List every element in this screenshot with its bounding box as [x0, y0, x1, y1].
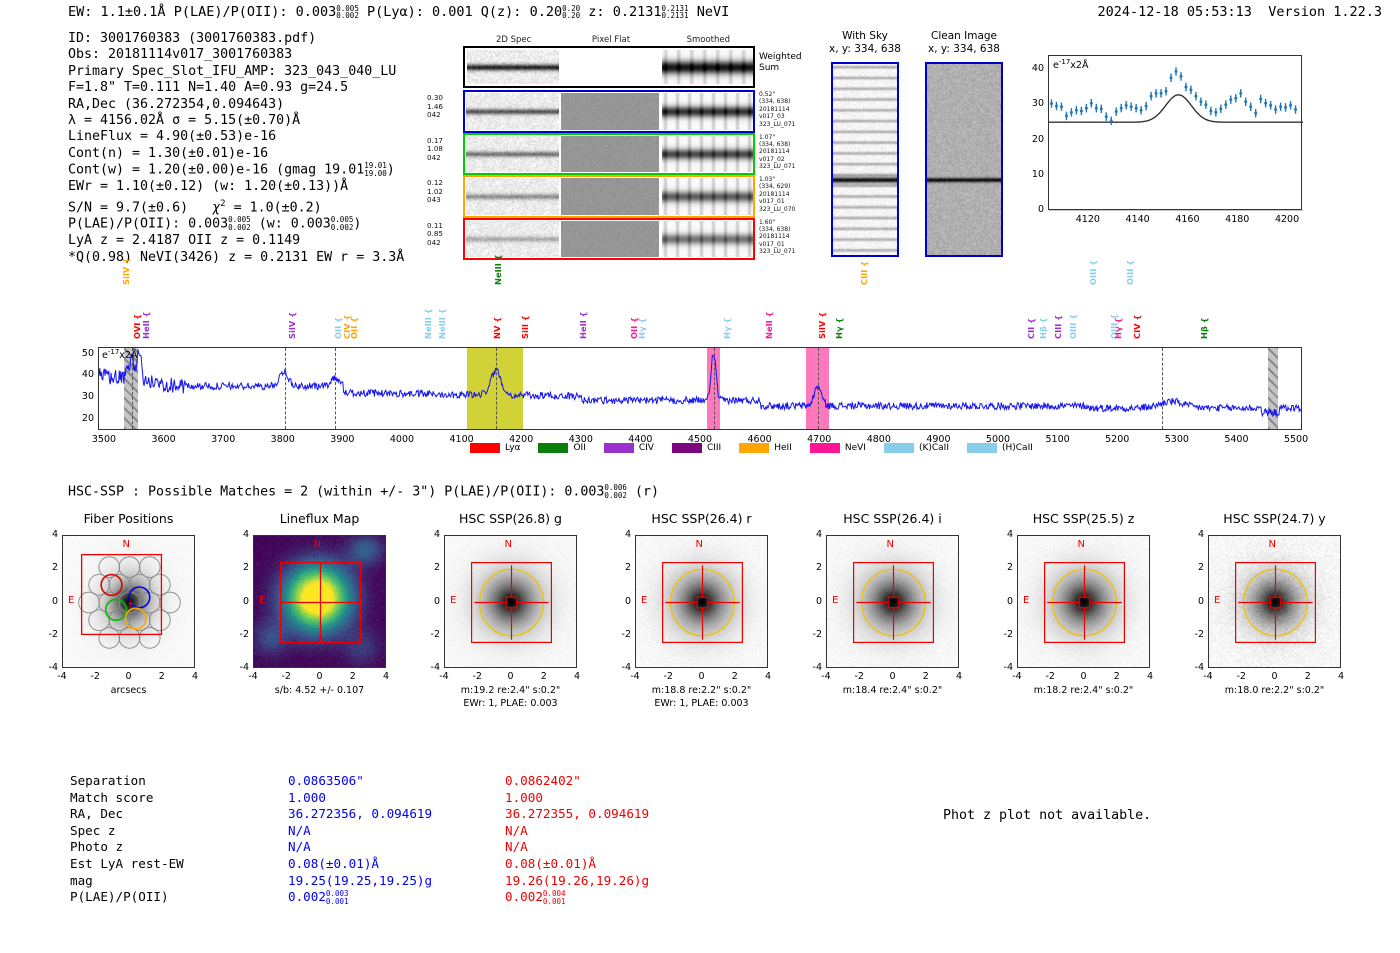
panel-ytick: -4 [1186, 662, 1204, 673]
hsc-summary: HSC-SSP : Possible Matches = 2 (within +… [68, 484, 659, 500]
spectrum-xtick: 3500 [84, 434, 124, 445]
info-radec: RA,Dec (36.272354,0.094643) [68, 97, 404, 113]
cutout-title: Clean Image [903, 30, 1025, 42]
spectrum-xtick: 4000 [382, 434, 422, 445]
panel-ytick: 2 [1186, 562, 1204, 573]
match-table-labels: SeparationMatch scoreRA, DecSpec zPhoto … [70, 773, 184, 906]
panel-xtick: 0 [497, 671, 525, 682]
spectrum-line-label: Hγ { [722, 318, 732, 339]
spectrum-xtick: 5100 [1038, 434, 1078, 445]
legend-swatch [967, 443, 997, 453]
panel-xtick: 2 [912, 671, 940, 682]
spectrum-line-label: SiIV { [817, 312, 827, 339]
header-qz-bounds: 0.200.20 [562, 5, 580, 20]
hsc-summary-text: HSC-SSP : Possible Matches = 2 (within +… [68, 485, 604, 500]
spectrum-line-label: CIV { [1132, 315, 1142, 339]
match-row-value: 0.08(±0.01)Å [505, 856, 649, 873]
panel-xtick: -2 [81, 671, 109, 682]
panel-xtick: -4 [239, 671, 267, 682]
panel-axes [444, 535, 577, 668]
spectrum-band [707, 348, 720, 429]
panel-axes [826, 535, 959, 668]
panel-xtick: -2 [463, 671, 491, 682]
match-table-col-0: 0.0863506"1.00036.272356, 0.094619N/AN/A… [288, 773, 432, 906]
spectrum-line-label: SiII { [520, 315, 530, 339]
spectrum-line-label: OIII { [1068, 314, 1078, 339]
spectrum-line-label: Hγ { [1113, 318, 1123, 339]
spectrum-dashed-line [496, 348, 497, 429]
panel-xtick: -2 [272, 671, 300, 682]
panel-ytick: -2 [804, 629, 822, 640]
panel-caption-2: EWr: 1, PLAE: 0.003 [414, 698, 607, 709]
panel-ytick: -2 [422, 629, 440, 640]
spec2d-right-value: v017_03 [759, 113, 795, 120]
cutout-subtitle: x, y: 334, 638 [903, 43, 1025, 55]
legend-swatch [884, 443, 914, 453]
header-timestamp-block: 2024-12-18 05:53:13 Version 1.22.3 [1098, 4, 1383, 20]
cutout-overlay [1209, 536, 1341, 668]
panel-caption: m:18.2 re:2.4" s:0.2" [987, 685, 1180, 696]
cutout-image [925, 62, 1003, 257]
legend-swatch [538, 443, 568, 453]
linefit-xtick: 4180 [1221, 214, 1253, 225]
panel-xtick: -2 [1227, 671, 1255, 682]
match-row-label: Photo z [70, 839, 184, 856]
spectrum-line-label: Hβ { [1038, 317, 1048, 339]
panel-ytick: 4 [422, 529, 440, 540]
panel-title: HSC SSP(24.7) y [1186, 511, 1363, 526]
match-row-label: mag [70, 873, 184, 890]
header-qz-label: Q(z): [481, 4, 522, 20]
spec2d-left-value: 1.08 [427, 145, 443, 154]
panel-ytick: 0 [613, 596, 631, 607]
spec2d-row-left-labels: 0.171.08042 [427, 137, 443, 163]
match-row-value: 1.000 [505, 790, 649, 807]
photz-note: Phot z plot not available. [943, 808, 1151, 823]
info-plae2: P(LAE)/P(OII): 0.0030.0050.002 (w: 0.003… [68, 216, 404, 233]
spec2d-weighted-sum-label: Weighted Sum [759, 52, 802, 74]
spectrum-line-label: OII { [333, 317, 343, 339]
spec2d-right-value: 1.60" [759, 219, 795, 226]
spec2d-row [463, 175, 755, 218]
spec2d-left-value: 0.17 [427, 137, 443, 146]
linefit-xtick: 4160 [1171, 214, 1203, 225]
panel-ytick: 0 [804, 596, 822, 607]
spectrum-line-label: NeIII { [423, 308, 433, 339]
panel-xtick: 2 [339, 671, 367, 682]
header-version: Version 1.22.3 [1268, 4, 1382, 20]
spectrum-xtick: 5400 [1216, 434, 1256, 445]
header-plae-bounds: 0.0050.002 [336, 5, 359, 20]
spectrum-ytick: 30 [74, 391, 94, 402]
compass-n-label: N [887, 539, 894, 550]
linefit-xtick: 4120 [1072, 214, 1104, 225]
panel-xtick: 4 [1136, 671, 1164, 682]
panel-ytick: 4 [804, 529, 822, 540]
match-row-label: Est LyA rest-EW [70, 856, 184, 873]
compass-e-label: E [1214, 595, 1220, 606]
spec2d-row-pixelflat [561, 178, 658, 215]
spec2d-right-value: 323_LU_070 [759, 206, 795, 213]
compass-n-label: N [123, 539, 130, 550]
spectrum-line-label: NeIII { [493, 254, 503, 285]
panel-caption: m:19.2 re:2.4" s:0.2" [414, 685, 607, 696]
match-row-value: N/A [505, 839, 649, 856]
legend-label: HeII [774, 443, 792, 453]
panel-title: HSC SSP(26.4) r [613, 511, 790, 526]
panel-xtick: -4 [812, 671, 840, 682]
spectrum-xtick: 3800 [263, 434, 303, 445]
info-lineflux: LineFlux = 4.90(±0.53)e-16 [68, 129, 404, 145]
compass-e-label: E [832, 595, 838, 606]
spectrum-line-label: Hγ { [637, 318, 647, 339]
spec2d-right-value: 1.07" [759, 134, 795, 141]
match-row-value: 19.25(19.25,19.25)g [288, 873, 432, 890]
spectrum-xtick: 4100 [442, 434, 482, 445]
linefit-axes [1048, 55, 1302, 210]
legend-swatch [470, 443, 500, 453]
info-obs: Obs: 20181114v017_3001760383 [68, 47, 404, 63]
spec2d-left-value: 1.02 [427, 188, 443, 197]
spec2d-ws-2dspec [467, 50, 559, 84]
spectrum-ytick: 20 [74, 413, 94, 424]
panel-axes [1208, 535, 1341, 668]
panel-xtick: 0 [688, 671, 716, 682]
spec2d-right-value: 323_LU_071 [759, 248, 795, 255]
spec2d-right-value: 323_LU_071 [759, 163, 795, 170]
panel-xtick: -4 [1194, 671, 1222, 682]
spectrum-line-label: OVI { [132, 314, 142, 339]
compass-n-label: N [505, 539, 512, 550]
spec2d-row-2dspec [466, 136, 559, 173]
spec2d-right-value: 20181114 [759, 191, 795, 198]
linefit-canvas [1049, 56, 1303, 211]
spectrum-line-label: CIV { [342, 315, 352, 339]
panel-ytick: 0 [40, 596, 58, 607]
panel-ytick: -4 [995, 662, 1013, 673]
match-row-value: 0.0020.0030.001 [288, 889, 432, 906]
spec2d-row [463, 90, 755, 133]
header-datetime: 2024-12-18 05:53:13 [1098, 4, 1252, 20]
spectrum-axes [98, 347, 1302, 430]
spec2d-right-value: 323_LU_071 [759, 121, 795, 128]
panel-xtick: 4 [372, 671, 400, 682]
header-summary-line: EW: 1.1±0.1Å P(LAE)/P(OII): 0.0030.0050.… [68, 4, 729, 20]
panel-ytick: -4 [231, 662, 249, 673]
cutout-overlay [1018, 536, 1150, 668]
panel-caption-2: EWr: 1, PLAE: 0.003 [605, 698, 798, 709]
compass-e-label: E [259, 595, 265, 606]
panel-ytick: 4 [40, 529, 58, 540]
panel-ytick: 2 [231, 562, 249, 573]
panel-ytick: 0 [422, 596, 440, 607]
compass-e-label: E [450, 595, 456, 606]
spec2d-row-pixelflat [561, 93, 658, 130]
spectrum-line-label: OII { [629, 317, 639, 339]
spec2d-right-value: 20181114 [759, 106, 795, 113]
spectrum-dashed-line [714, 348, 715, 429]
spectrum-xtick: 5000 [978, 434, 1018, 445]
panel-caption: s/b: 4.52 +/- 0.107 [223, 685, 416, 696]
spec2d-weighted-sum-row [463, 46, 755, 88]
spec2d-row-right-labels: 1.60"(334, 638)20181114v017_01323_LU_071 [759, 219, 795, 256]
spec2d-left-value: 042 [427, 154, 443, 163]
spec2d-row [463, 218, 755, 261]
spectrum-band [124, 348, 138, 429]
linefit-xtick: 4200 [1271, 214, 1303, 225]
panel-ytick: 0 [231, 596, 249, 607]
spec2d-right-value: (334, 638) [759, 226, 795, 233]
match-row-value: N/A [288, 839, 432, 856]
panel-axes [1017, 535, 1150, 668]
header-z-value: 0.2131 [613, 4, 662, 20]
match-row-value: 0.0020.0040.001 [505, 889, 649, 906]
panel-axes [253, 535, 386, 668]
spectrum-xtick: 4900 [918, 434, 958, 445]
spectrum-band [467, 348, 523, 429]
spec2d-left-value: 043 [427, 196, 443, 205]
panel-ytick: 4 [231, 529, 249, 540]
panel-ytick: -4 [613, 662, 631, 673]
spec2d-left-value: 042 [427, 239, 443, 248]
panel-title: Lineflux Map [231, 511, 408, 526]
spectrum-line-label: CIII { [859, 261, 869, 285]
compass-n-label: N [1269, 539, 1276, 550]
linefit-ytick: 30 [1026, 98, 1044, 109]
spec2d-row [463, 133, 755, 176]
spec2d-row-left-labels: 0.301.46042 [427, 94, 443, 120]
panel-ytick: 2 [40, 562, 58, 573]
panel-xtick: 4 [754, 671, 782, 682]
panel-ytick: 2 [613, 562, 631, 573]
fiber-overlay: + [63, 536, 195, 668]
match-row-label: Match score [70, 790, 184, 807]
linefit-units-label: e-17x2Å [1053, 58, 1088, 71]
cutout-subtitle: x, y: 334, 638 [809, 43, 921, 55]
compass-n-label: N [314, 539, 321, 550]
legend-swatch [810, 443, 840, 453]
spectrum-line-label: CIII { [1053, 315, 1063, 339]
legend-label: CIII [707, 443, 721, 453]
spec2d-right-value: v017_01 [759, 198, 795, 205]
spectrum-band [806, 348, 829, 429]
spectrum-dashed-line [1162, 348, 1163, 429]
panel-xtick: 4 [1327, 671, 1355, 682]
spectrum-line-label: OIII { [1088, 260, 1098, 285]
spectrum-ytick: 40 [74, 369, 94, 380]
spec2d-right-value: v017_01 [759, 241, 795, 248]
header-plya: P(Lyα): 0.001 [367, 4, 473, 20]
hsc-summary-bounds: 0.0060.002 [604, 484, 627, 499]
spectrum-xtick: 4500 [680, 434, 720, 445]
legend-label: Lyα [505, 443, 520, 453]
panel-xtick: -2 [1036, 671, 1064, 682]
legend-swatch [672, 443, 702, 453]
spec2d-row-smoothed [662, 178, 753, 215]
spec2d-left-value: 042 [427, 111, 443, 120]
panel-ytick: 0 [1186, 596, 1204, 607]
cutout-overlay [827, 536, 959, 668]
compass-n-label: N [696, 539, 703, 550]
linefit-ytick: 40 [1026, 63, 1044, 74]
match-row-value: N/A [288, 823, 432, 840]
compass-e-label: E [68, 595, 74, 606]
svg-text:+: + [127, 599, 135, 610]
spectrum-xtick: 4300 [561, 434, 601, 445]
spectrum-dashed-line [335, 348, 336, 429]
panel-xtick: -4 [48, 671, 76, 682]
spec2d-column-title-2: Smoothed [660, 35, 757, 45]
cutout-overlay [445, 536, 577, 668]
spectrum-xtick: 3600 [144, 434, 184, 445]
panel-ytick: -4 [40, 662, 58, 673]
hsc-summary-filter: (r) [635, 485, 659, 500]
spec2d-right-value: 20181114 [759, 148, 795, 155]
panel-xtick: 4 [181, 671, 209, 682]
spec2d-row-left-labels: 0.110.85042 [427, 222, 443, 248]
match-table-col-1: 0.0862402"1.00036.272355, 0.094619N/AN/A… [505, 773, 649, 906]
match-row-value: 0.0863506" [288, 773, 432, 790]
spectrum-trace [99, 348, 1302, 430]
header-plae-value: 0.003 [296, 4, 337, 20]
spec2d-left-value: 0.11 [427, 222, 443, 231]
panel-ytick: -4 [804, 662, 822, 673]
spec2d-row-pixelflat [561, 221, 658, 258]
spectrum-xtick: 4600 [740, 434, 780, 445]
legend-swatch [739, 443, 769, 453]
spectrum-dashed-line [818, 348, 819, 429]
panel-ytick: 4 [613, 529, 631, 540]
info-primary-spec: Primary Spec_Slot_IFU_AMP: 323_043_040_L… [68, 64, 404, 80]
spectrum-xtick: 4800 [859, 434, 899, 445]
info-id: ID: 3001760383 (3001760383.pdf) [68, 31, 404, 47]
spec2d-left-value: 0.85 [427, 230, 443, 239]
panel-xtick: 0 [879, 671, 907, 682]
legend-label: CIV [639, 443, 654, 453]
spectrum-xtick: 4200 [501, 434, 541, 445]
info-sn-chi2: S/N = 9.7(±0.6) χ2 = 1.0(±0.2) [68, 196, 404, 217]
info-cont-n: Cont(n) = 1.30(±0.01)e-16 [68, 146, 404, 162]
panel-ytick: -2 [995, 629, 1013, 640]
panel-xtick: -4 [621, 671, 649, 682]
spec2d-column-title-1: Pixel Flat [562, 35, 659, 45]
info-params: F=1.8" T=0.111 N=1.40 A=0.93 g=24.5 [68, 80, 404, 96]
spectrum-line-label: HeII { [578, 311, 588, 339]
panel-xtick: 4 [945, 671, 973, 682]
panel-ytick: -2 [231, 629, 249, 640]
spectrum-xtick: 3700 [203, 434, 243, 445]
spectrum-line-label: Hγ { [834, 318, 844, 339]
spectrum-xtick: 5200 [1097, 434, 1137, 445]
spec2d-left-value: 1.46 [427, 103, 443, 112]
panel-xtick: 4 [563, 671, 591, 682]
match-row-value: 36.272356, 0.094619 [288, 806, 432, 823]
compass-e-label: E [641, 595, 647, 606]
legend-label: (K)CaII [919, 443, 949, 453]
header-qz-value: 0.20 [530, 4, 563, 20]
spectrum-line-label: OIII { [1109, 314, 1119, 339]
panel-xtick: 2 [148, 671, 176, 682]
spectrum-legend: LyαOIICIVCIIIHeIINeVI(K)CaII(H)CaII [470, 443, 1051, 454]
panel-axes [635, 535, 768, 668]
match-row-label: RA, Dec [70, 806, 184, 823]
panel-title: HSC SSP(26.8) g [422, 511, 599, 526]
spec2d-row-right-labels: 1.03"(334, 629)20181114v017_01323_LU_070 [759, 176, 795, 213]
match-row-value: 1.000 [288, 790, 432, 807]
lineflux-overlay [254, 536, 386, 668]
cutout-title: With Sky [809, 30, 921, 42]
panel-caption: arcsecs [32, 685, 225, 696]
spectrum-line-label: NV { [492, 317, 502, 339]
spectrum-line-label: OIII { [1125, 260, 1135, 285]
spec2d-row-2dspec [466, 178, 559, 215]
header-z-label: z: [588, 4, 604, 20]
panel-caption: m:18.4 re:2.4" s:0.2" [796, 685, 989, 696]
legend-label: NeVI [845, 443, 866, 453]
panel-xtick: 0 [1070, 671, 1098, 682]
panel-xtick: 0 [306, 671, 334, 682]
legend-label: (H)CaII [1002, 443, 1033, 453]
panel-ytick: 4 [1186, 529, 1204, 540]
spectrum-line-label: CII { [1026, 318, 1036, 339]
spectrum-units-label: e-17x2Å [102, 348, 137, 361]
spec2d-row-pixelflat [561, 136, 658, 173]
panel-ytick: 4 [995, 529, 1013, 540]
cutout-overlay [636, 536, 768, 668]
panel-ytick: -2 [40, 629, 58, 640]
panel-xtick: -4 [430, 671, 458, 682]
match-row-label: P(LAE)/P(OII) [70, 889, 184, 906]
panel-caption: m:18.8 re:2.2" s:0.2" [605, 685, 798, 696]
spec2d-right-value: 0.52" [759, 91, 795, 98]
panel-xtick: 2 [721, 671, 749, 682]
panel-xtick: 2 [1103, 671, 1131, 682]
panel-title: HSC SSP(26.4) i [804, 511, 981, 526]
panel-ytick: 2 [804, 562, 822, 573]
spectrum-xtick: 4700 [799, 434, 839, 445]
panel-ytick: 2 [995, 562, 1013, 573]
panel-axes: + [62, 535, 195, 668]
header-ew: EW: 1.1±0.1Å [68, 4, 166, 20]
spectrum-xtick: 4400 [620, 434, 660, 445]
spec2d-row-right-labels: 1.07"(334, 638)20181114v017_02323_LU_071 [759, 134, 795, 171]
spectrum-line-label: SiIV { [287, 312, 297, 339]
header-z-bounds: 0.21310.2131 [661, 5, 688, 20]
match-row-value: N/A [505, 823, 649, 840]
match-row-value: 19.26(19.26,19.26)g [505, 873, 649, 890]
match-row-label: Separation [70, 773, 184, 790]
spectrum-line-label: OII { [349, 317, 359, 339]
spectrum-line-label: NeIII { [437, 308, 447, 339]
header-plae-label: P(LAE)/P(OII): [174, 4, 288, 20]
match-row-value: 0.0862402" [505, 773, 649, 790]
header-z-line: NeVI [697, 4, 730, 20]
info-cont-w: Cont(w) = 1.20(±0.00)e-16 (gmag 19.0119.… [68, 162, 404, 179]
spec2d-row-smoothed [662, 221, 753, 258]
spectrum-dashed-line [285, 348, 286, 429]
panel-ytick: 0 [995, 596, 1013, 607]
spec2d-right-value: (334, 638) [759, 98, 795, 105]
info-ewr: EWr = 1.10(±0.12) (w: 1.20(±0.13))Å [68, 179, 404, 195]
spectrum-line-label: HeII { [141, 311, 151, 339]
spectrum-ytick: 50 [74, 348, 94, 359]
info-q-nevi: *Q(0.98) NeVI(3426) z = 0.2131 EW r = 3.… [68, 250, 404, 266]
spec2d-right-value: (334, 638) [759, 141, 795, 148]
match-row-label: Spec z [70, 823, 184, 840]
spectrum-xtick: 3900 [322, 434, 362, 445]
spec2d-left-value: 0.30 [427, 94, 443, 103]
spec2d-right-value: 1.03" [759, 176, 795, 183]
